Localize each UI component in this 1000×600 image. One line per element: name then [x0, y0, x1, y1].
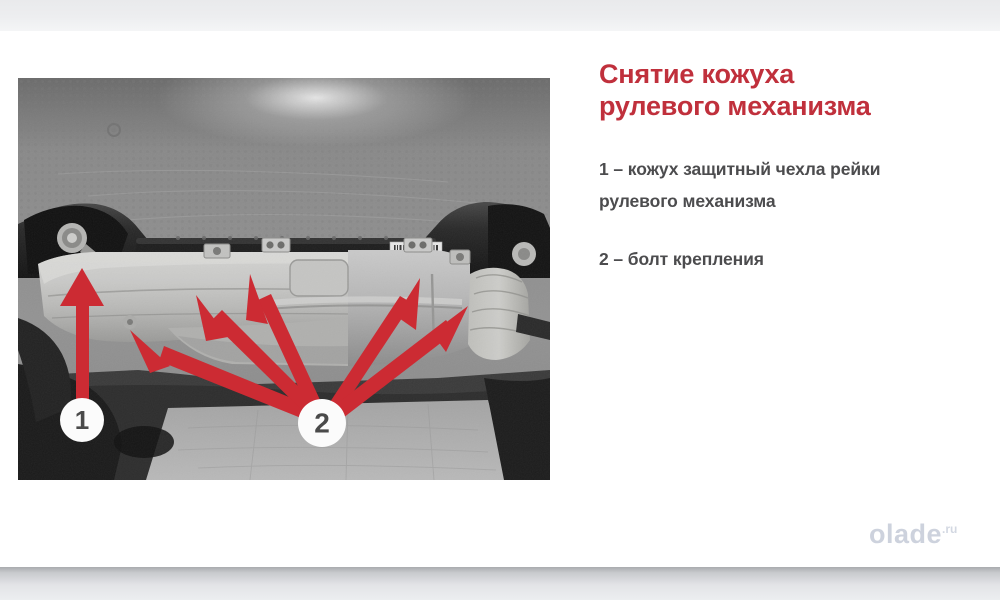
site-watermark: olade.ru	[869, 521, 957, 548]
text-column: Снятие кожуха рулевого механизма 1 – кож…	[599, 58, 971, 275]
legend-list: 1 – кожух защитный чехла рейки рулевого …	[599, 153, 971, 275]
photo-svg: 1 2	[18, 78, 550, 480]
legend-item-1: 1 – кожух защитный чехла рейки рулевого …	[599, 153, 971, 217]
callout-marker-2-label: 2	[314, 408, 330, 439]
illustration-photo: 1 2	[18, 78, 550, 480]
callout-marker-1-label: 1	[75, 405, 89, 435]
watermark-tld: .ru	[942, 522, 957, 536]
callout-marker-2: 2	[298, 399, 346, 447]
top-decorative-band	[0, 0, 1000, 31]
bottom-decorative-band	[0, 567, 1000, 600]
watermark-name: olade	[869, 519, 942, 549]
callout-marker-1: 1	[60, 398, 104, 442]
page-title: Снятие кожуха рулевого механизма	[599, 58, 971, 122]
legend-item-2: 2 – болт крепления	[599, 243, 971, 275]
slide-canvas: 1 2 Снятие кожуха рулевого механизма 1 –…	[0, 0, 1000, 600]
